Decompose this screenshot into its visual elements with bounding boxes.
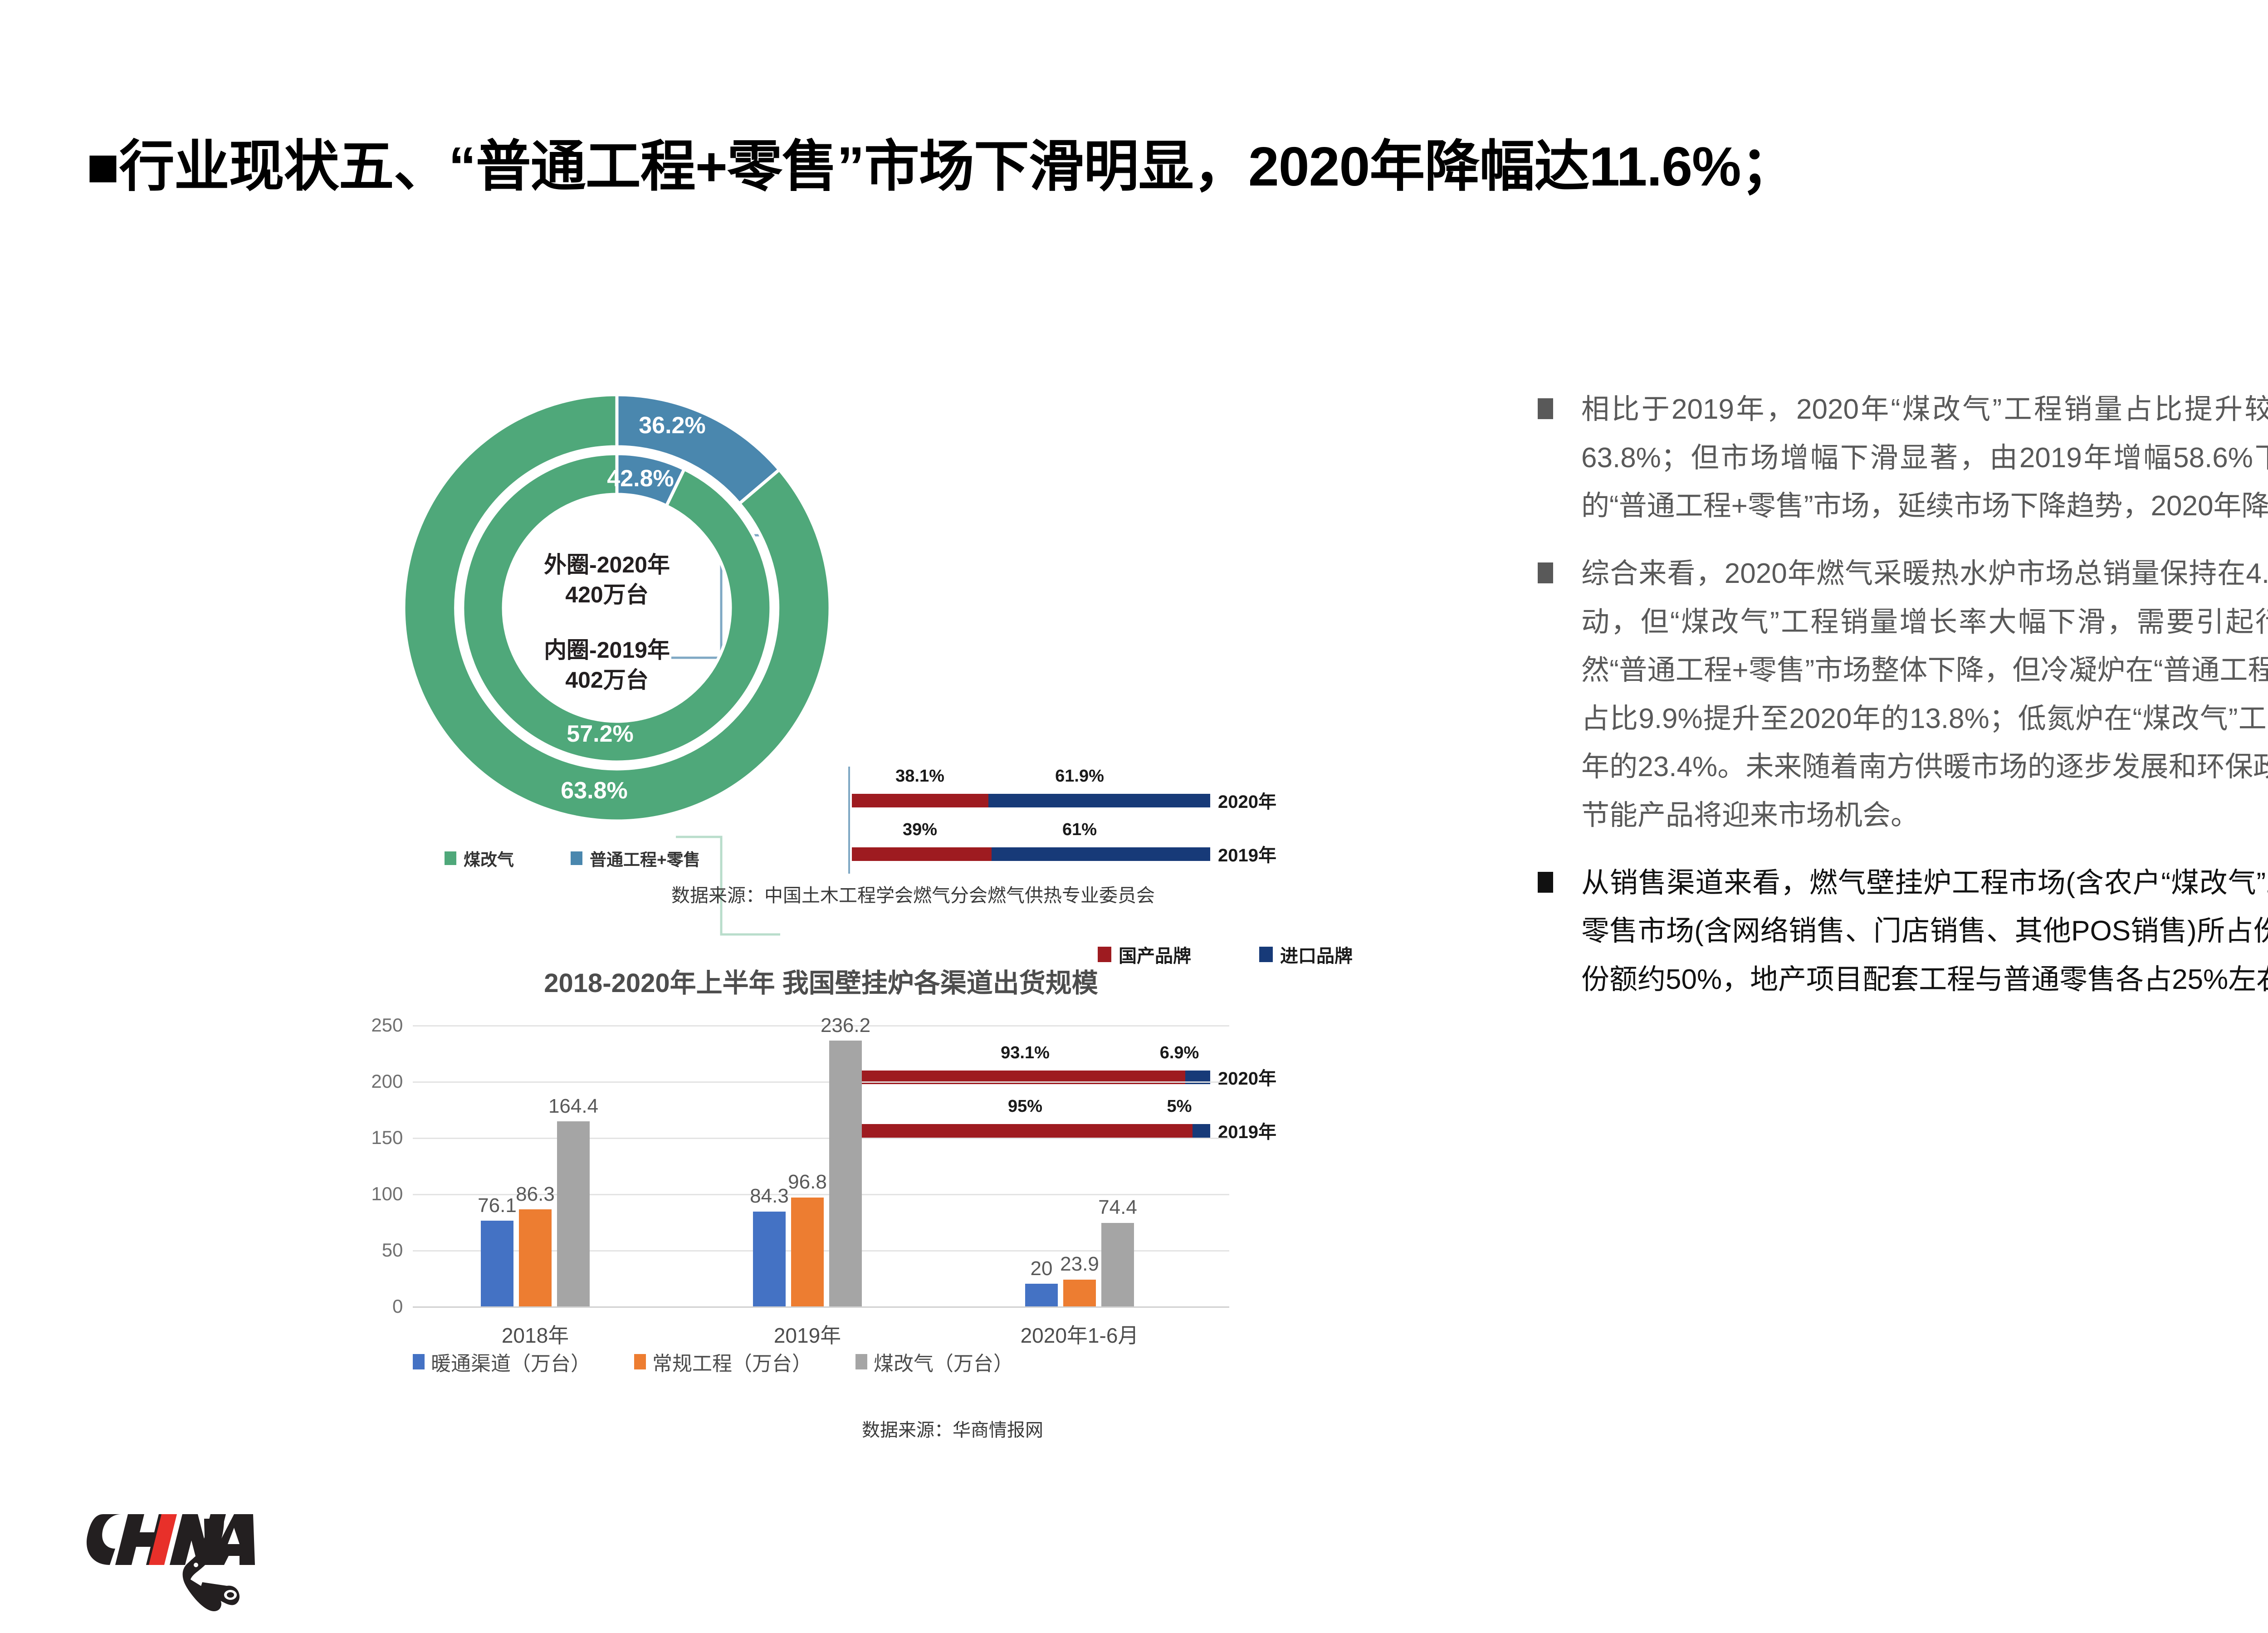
bar-chart-title: 2018-2020年上半年 我国壁挂炉各渠道出货规模 xyxy=(345,962,1297,1000)
donut-center-inner-total: 402万台 xyxy=(565,667,648,693)
donut-center-outer-year: 外圈-2020年 xyxy=(544,552,670,577)
y-axis-tick: 150 xyxy=(371,1127,411,1149)
y-axis-tick: 50 xyxy=(382,1239,411,1261)
bar-rect-hvac xyxy=(753,1212,786,1306)
donut-chart: 36.2% 42.8% 57.2% 63.8% 外圈-2020年 420万台 内… xyxy=(390,363,844,853)
donut-legend-label: 普通工程+零售 xyxy=(590,846,700,870)
donut-legend-label: 煤改气 xyxy=(464,846,514,870)
legend-swatch-blue-icon xyxy=(413,1354,425,1369)
bar-chart-data-source: 数据来源：华商情报网 xyxy=(862,1415,1043,1442)
legend-swatch-gray-icon xyxy=(855,1354,867,1369)
bar-chart-legend: 暖通渠道（万台） 常规工程（万台） 煤改气（万台） xyxy=(413,1347,1229,1376)
bar-rect-hvac xyxy=(1025,1284,1058,1306)
bar-rect-meigaiqi xyxy=(557,1121,590,1306)
bullet-text: 从销售渠道来看，燃气壁挂炉工程市场(含农户“煤改气”工程、地产项目配套工程)所占… xyxy=(1581,859,2268,1004)
donut-legend-item-retail[interactable]: 普通工程+零售 xyxy=(571,846,700,870)
bullet-marker-icon xyxy=(1538,550,1581,840)
bar-column[interactable]: 20 xyxy=(1025,1284,1058,1306)
y-axis-tick: 0 xyxy=(392,1296,411,1317)
bar-value-label: 23.9 xyxy=(1060,1253,1099,1276)
bar-column[interactable]: 86.3 xyxy=(519,1209,552,1306)
donut-data-source: 数据来源：中国土木工程学会燃气分会燃气供热专业委员会 xyxy=(671,880,1155,907)
legend-swatch-orange-icon xyxy=(634,1354,646,1369)
bullet-item-1: 相比于2019年，2020年“煤改气”工程销量占比提升较大，由2019年占全年总… xyxy=(1538,386,2268,531)
bar-legend-item-conventional[interactable]: 常规工程（万台） xyxy=(634,1347,812,1376)
bar-value-label: 74.4 xyxy=(1098,1196,1137,1219)
mini-stacked-bar[interactable] xyxy=(852,794,1210,807)
bar-value-label: 96.8 xyxy=(788,1171,827,1193)
bar-column[interactable]: 23.9 xyxy=(1063,1280,1096,1306)
bar-rect-meigaiqi xyxy=(1101,1223,1134,1307)
bar-chart-plot: 250 200 150 100 50 0 76.1 86.3 164.4 84.… xyxy=(413,1025,1229,1306)
donut-center-outer-total: 420万台 xyxy=(565,582,648,607)
bar-rect-meigaiqi xyxy=(829,1041,862,1306)
bar-value-label: 164.4 xyxy=(548,1095,598,1118)
bullet-marker-icon xyxy=(1538,859,1581,1004)
donut-legend: 煤改气 普通工程+零售 xyxy=(445,846,700,870)
donut-label-inner-green: 57.2% xyxy=(567,721,633,747)
axis-line xyxy=(413,1306,1229,1308)
bar-value-label: 76.1 xyxy=(478,1194,517,1217)
china-logo xyxy=(68,1506,259,1615)
donut-legend-item-meigaiqi[interactable]: 煤改气 xyxy=(445,846,514,870)
bar-legend-label: 常规工程（万台） xyxy=(652,1347,812,1376)
bullet-item-3: 从销售渠道来看，燃气壁挂炉工程市场(含农户“煤改气”工程、地产项目配套工程)所占… xyxy=(1538,859,2268,1004)
mini-label-imported: 61.9% xyxy=(1055,767,1104,786)
mini-segment-domestic xyxy=(852,794,988,807)
bar-column[interactable]: 96.8 xyxy=(791,1198,824,1306)
bar-value-label: 236.2 xyxy=(821,1014,870,1037)
bar-rect-conventional xyxy=(791,1198,824,1306)
y-axis-tick: 200 xyxy=(371,1071,411,1092)
donut-center-inner-year: 内圈-2019年 xyxy=(544,637,670,663)
bar-group-2020h1: 20 23.9 74.4 xyxy=(1012,1025,1148,1306)
bar-value-label: 86.3 xyxy=(516,1183,555,1206)
bar-column[interactable]: 76.1 xyxy=(481,1221,513,1306)
mini-segment-imported xyxy=(988,794,1210,807)
bar-rect-conventional xyxy=(519,1209,552,1306)
bar-column[interactable]: 164.4 xyxy=(557,1121,590,1306)
bar-chart: 2018-2020年上半年 我国壁挂炉各渠道出货规模 250 200 150 1… xyxy=(345,962,1297,1452)
donut-label-inner-blue: 42.8% xyxy=(607,465,674,492)
legend-swatch-red-icon xyxy=(1098,947,1111,962)
y-axis-tick: 250 xyxy=(371,1014,411,1036)
bullet-text: 相比于2019年，2020年“煤改气”工程销量占比提升较大，由2019年占全年总… xyxy=(1581,386,2268,531)
bar-group-2019: 84.3 96.8 236.2 xyxy=(739,1025,875,1306)
legend-swatch-green-icon xyxy=(445,851,456,865)
bar-legend-label: 暖通渠道（万台） xyxy=(431,1347,591,1376)
bar-group-2018: 76.1 86.3 164.4 xyxy=(467,1025,603,1306)
y-axis-tick: 100 xyxy=(371,1183,411,1205)
x-axis-category-2020h1: 2020年1-6月 xyxy=(1021,1319,1139,1349)
china-logo-icon xyxy=(68,1506,259,1615)
mini-label-imported: 61% xyxy=(1062,820,1097,840)
bar-value-label: 84.3 xyxy=(750,1185,789,1208)
bar-legend-item-hvac[interactable]: 暖通渠道（万台） xyxy=(413,1347,591,1376)
donut-label-outer-green: 63.8% xyxy=(561,777,627,804)
x-axis-category-2019: 2019年 xyxy=(774,1319,841,1349)
mini-stacked-bar[interactable] xyxy=(852,847,1210,861)
donut-inner-green xyxy=(463,454,771,762)
mini-label-domestic: 39% xyxy=(903,820,937,840)
page-title: ■行业现状五、“普通工程+零售”市场下滑明显，2020年降幅达11.6%； xyxy=(86,136,2268,197)
mini-year-label: 2019年 xyxy=(1218,841,1276,867)
bar-rect-conventional xyxy=(1063,1280,1096,1306)
bullet-marker-icon xyxy=(1538,386,1581,531)
mini-label-domestic: 38.1% xyxy=(895,767,944,786)
bar-rect-hvac xyxy=(481,1221,513,1306)
bar-column[interactable]: 74.4 xyxy=(1101,1223,1134,1307)
mini-segment-imported xyxy=(992,847,1210,861)
mini-chart-retail: 38.1% 61.9% 2020年 39% 61% 2 xyxy=(844,767,1279,874)
mini-row-2019: 39% 61% 2019年 xyxy=(844,820,1279,874)
bar-value-label: 20 xyxy=(1031,1257,1053,1280)
legend-swatch-navy-icon xyxy=(1259,947,1273,962)
legend-swatch-blue-icon xyxy=(571,851,582,865)
mini-year-label: 2020年 xyxy=(1218,787,1276,813)
bar-legend-label: 煤改气（万台） xyxy=(874,1347,1013,1376)
donut-label-outer-blue: 36.2% xyxy=(639,412,705,439)
analysis-text-column: 相比于2019年，2020年“煤改气”工程销量占比提升较大，由2019年占全年总… xyxy=(1538,386,2268,1023)
bullet-text: 综合来看，2020年燃气采暖热水炉市场总销量保持在4.5%的增长率，得益于“煤改… xyxy=(1581,550,2268,840)
mini-row-2020: 38.1% 61.9% 2020年 xyxy=(844,767,1279,820)
bar-legend-item-meigaiqi[interactable]: 煤改气（万台） xyxy=(855,1347,1013,1376)
bar-column[interactable]: 236.2 xyxy=(829,1041,862,1306)
bar-column[interactable]: 84.3 xyxy=(753,1212,786,1306)
x-axis-category-2018: 2018年 xyxy=(502,1319,569,1349)
mini-segment-domestic xyxy=(852,847,992,861)
bullet-item-2: 综合来看，2020年燃气采暖热水炉市场总销量保持在4.5%的增长率，得益于“煤改… xyxy=(1538,550,2268,840)
